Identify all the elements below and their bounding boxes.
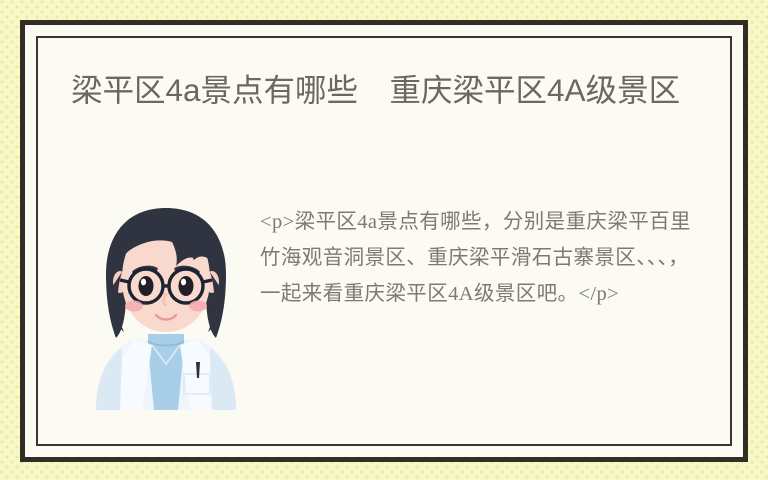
article-body: <p>梁平区4a景点有哪些，分别是重庆梁平百里竹海观音洞景区、重庆梁平滑石古寨景… [260,204,700,312]
page-canvas: 梁平区4a景点有哪些 重庆梁平区4A级景区 [0,0,768,480]
content-panel: 梁平区4a景点有哪些 重庆梁平区4A级景区 [38,38,730,444]
page-title: 梁平区4a景点有哪些 重庆梁平区4A级景区 [71,68,701,112]
inner-frame-border: 梁平区4a景点有哪些 重庆梁平区4A级景区 [36,36,732,446]
turtleneck-shirt-icon [148,334,184,410]
outer-frame-border: 梁平区4a景点有哪些 重庆梁平区4A级景区 [20,20,748,462]
avatar [86,198,246,410]
